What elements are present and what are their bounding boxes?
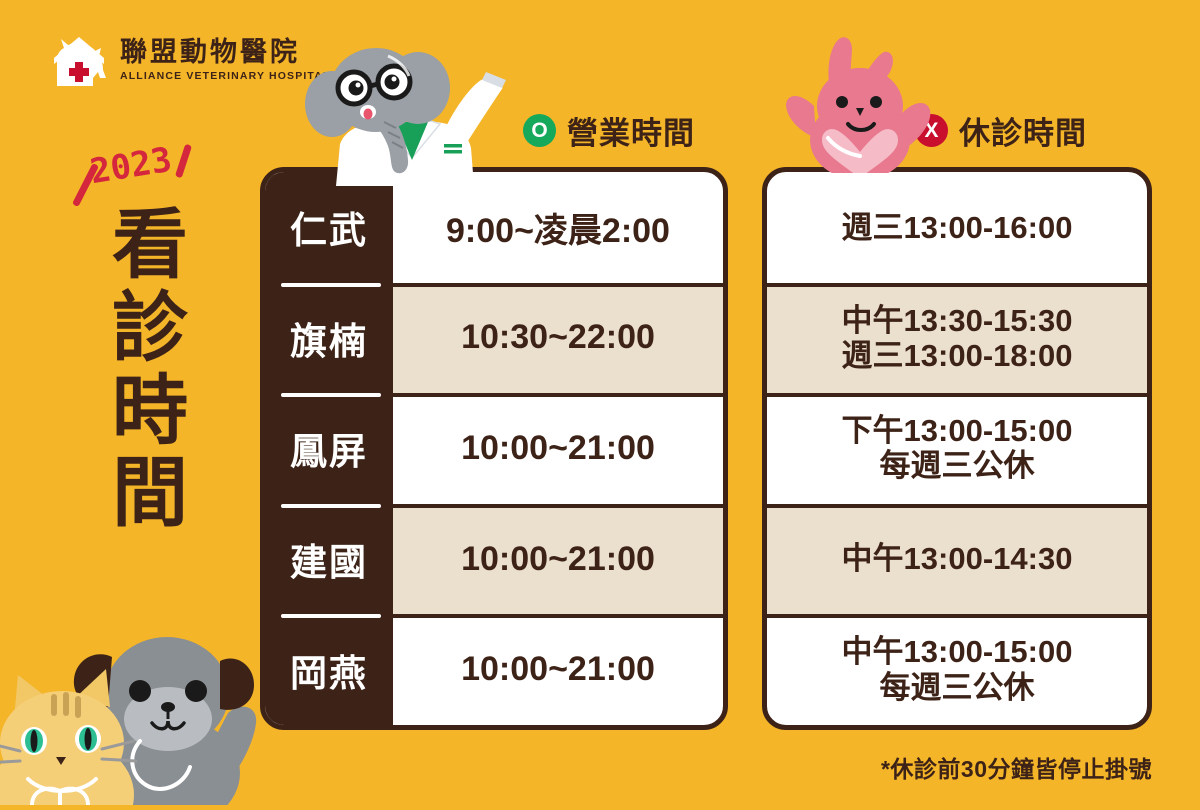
legend-closed-hours: X 休診時間	[915, 108, 1087, 153]
open-hours-value: 10:00~21:00	[461, 650, 655, 689]
open-hours-cell: 10:00~21:00	[393, 393, 723, 504]
title-char-4: 間	[112, 453, 188, 536]
closed-hours-cell: 中午13:30-15:30 週三13:00-18:00	[767, 283, 1147, 394]
open-hours-cell: 10:30~22:00	[393, 283, 723, 394]
cat-dog-cross-icon	[48, 34, 110, 86]
closed-hours-line: 週三13:00-18:00	[842, 338, 1073, 373]
branch-name: 旗楠	[290, 311, 368, 365]
closed-hours-line: 中午13:00-15:00	[842, 634, 1073, 669]
brand-logo: 聯盟動物醫院 ALLIANCE VETERINARY HOSPITAL	[48, 34, 331, 86]
open-hours-cell: 10:00~21:00	[393, 504, 723, 615]
title-char-2: 診	[112, 288, 188, 371]
cat-dog-mascots	[0, 615, 262, 805]
open-hours-value: 10:00~21:00	[461, 540, 655, 579]
year-text: 2023	[87, 140, 174, 192]
branch-name: 仁武	[290, 200, 368, 254]
slash-right-icon	[175, 144, 192, 178]
closed-hours-line: 週三13:00-16:00	[842, 210, 1073, 245]
open-hours-value: 9:00~凌晨2:00	[446, 203, 670, 252]
rabbit-icon	[786, 28, 936, 173]
open-hours-cell: 9:00~凌晨2:00	[393, 172, 723, 283]
footnote: *休診前30分鐘皆停止掛號	[881, 750, 1152, 784]
closed-hours-line: 下午13:00-15:00	[842, 413, 1073, 448]
legend-open-label: 營業時間	[567, 108, 695, 153]
closed-hours-line: 每週三公休	[880, 448, 1035, 483]
branch-column: 仁武 旗楠 鳳屏 建國 岡燕	[265, 172, 393, 725]
legend-closed-label: 休診時間	[959, 108, 1087, 153]
closed-hours-cell: 中午13:00-15:00 每週三公休	[767, 614, 1147, 725]
open-hours-value: 10:30~22:00	[461, 318, 655, 357]
branch-cell: 岡燕	[265, 614, 393, 725]
branch-cell: 建國	[265, 504, 393, 615]
open-hours-column: 9:00~凌晨2:00 10:30~22:00 10:00~21:00 10:0…	[393, 172, 723, 725]
branch-name: 鳳屏	[290, 421, 368, 475]
branch-cell: 鳳屏	[265, 393, 393, 504]
closed-hours-line: 中午13:00-14:30	[842, 541, 1073, 576]
page-title-vertical: 看 診 時 間	[112, 205, 188, 536]
open-hours-value: 10:00~21:00	[461, 429, 655, 468]
open-hours-cell: 10:00~21:00	[393, 614, 723, 725]
branch-name: 建國	[290, 532, 368, 586]
legend-open-hours: O 營業時間	[523, 108, 695, 153]
closed-hours-cell: 週三13:00-16:00	[767, 172, 1147, 283]
elephant-doctor-icon	[296, 36, 526, 186]
closed-hours-cell: 下午13:00-15:00 每週三公休	[767, 393, 1147, 504]
branch-cell: 仁武	[265, 172, 393, 283]
closed-hours-cell: 中午13:00-14:30	[767, 504, 1147, 615]
closed-hours-line: 中午13:30-15:30	[842, 303, 1073, 338]
open-hours-panel: 仁武 旗楠 鳳屏 建國 岡燕 9:00~凌晨2:00 10:30~22:00	[260, 167, 728, 730]
branch-cell: 旗楠	[265, 283, 393, 394]
closed-hours-line: 每週三公休	[880, 670, 1035, 705]
title-char-3: 時	[112, 371, 188, 454]
open-badge-icon: O	[523, 114, 556, 147]
title-char-1: 看	[112, 205, 188, 288]
closed-hours-panel: 週三13:00-16:00 中午13:30-15:30 週三13:00-18:0…	[762, 167, 1152, 730]
branch-name: 岡燕	[290, 643, 368, 697]
